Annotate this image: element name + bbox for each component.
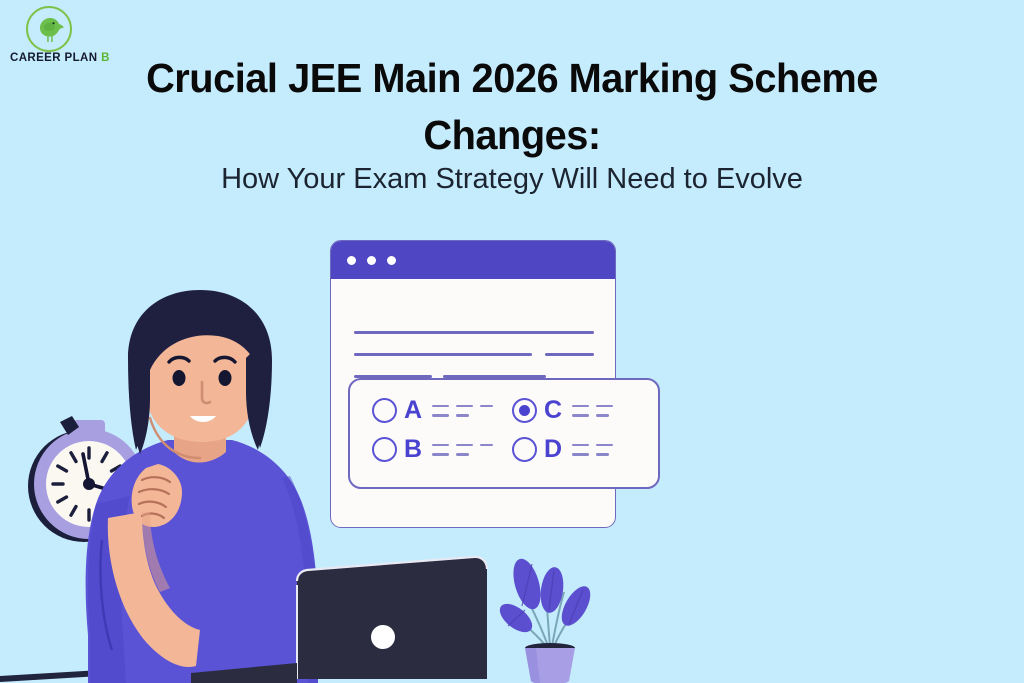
- mcq-option-label: D: [544, 437, 562, 462]
- mcq-option-label: B: [404, 437, 422, 462]
- bird-icon: [34, 14, 66, 44]
- radio-button-icon[interactable]: [372, 398, 397, 423]
- window-dot-icon: [347, 256, 356, 265]
- page-subtitle: How Your Exam Strategy Will Need to Evol…: [0, 160, 1024, 198]
- mcq-option-d[interactable]: D: [512, 437, 613, 462]
- mcq-option-label: C: [544, 398, 562, 423]
- window-dot-icon: [387, 256, 396, 265]
- window-dot-icon: [367, 256, 376, 265]
- page-title-line-2: Changes:: [15, 107, 1008, 164]
- mcq-option-b[interactable]: B: [372, 437, 493, 462]
- mcq-option-text-placeholder: [569, 405, 613, 417]
- radio-button-icon[interactable]: [372, 437, 397, 462]
- mcq-option-a[interactable]: A: [372, 398, 493, 423]
- poster-canvas: CAREER PLAN B Crucial JEE Main 2026 Mark…: [0, 0, 1024, 683]
- placeholder-text-line: [354, 331, 594, 334]
- placeholder-text-line: [545, 353, 594, 356]
- mcq-option-text-placeholder: [569, 444, 613, 456]
- page-title-line-1: Crucial JEE Main 2026 Marking Scheme: [15, 50, 1008, 107]
- multiple-choice-answer-card[interactable]: A B C D: [348, 378, 660, 489]
- potted-plant-illustration: [496, 548, 604, 683]
- laptop-illustration[interactable]: [185, 555, 505, 683]
- mcq-option-text-placeholder: [429, 405, 493, 417]
- page-title: Crucial JEE Main 2026 Marking Scheme Cha…: [15, 50, 1008, 164]
- mcq-option-text-placeholder: [429, 444, 493, 456]
- radio-button-icon[interactable]: [512, 437, 537, 462]
- browser-titlebar: [331, 241, 615, 279]
- radio-button-selected-icon[interactable]: [512, 398, 537, 423]
- placeholder-text-line: [354, 353, 532, 356]
- mcq-option-label: A: [404, 398, 422, 423]
- mcq-option-c[interactable]: C: [512, 398, 613, 423]
